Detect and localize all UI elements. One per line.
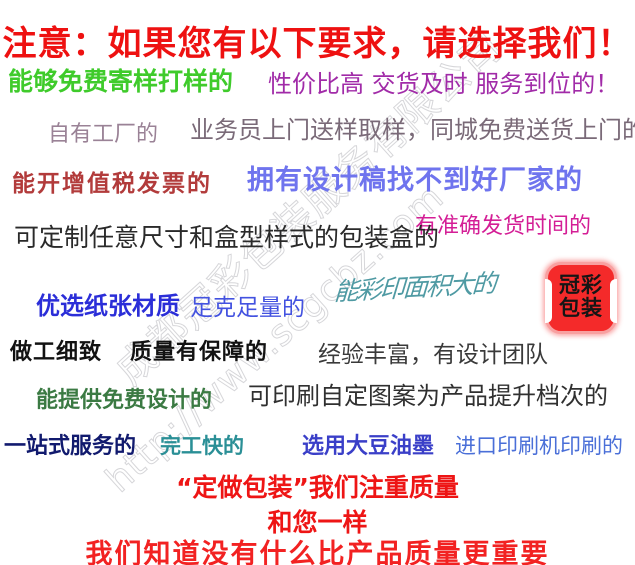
feature-quality-guaranteed: 质量有保障的 <box>130 334 268 366</box>
feature-full-weight: 足克足量的 <box>190 288 305 322</box>
feature-salesman-delivery: 业务员上门送样取样，同城免费送货上门的 <box>190 110 635 145</box>
feature-value-delivery-service: 性价比高 交货及时 服务到位的！ <box>268 64 619 99</box>
stamp-text: 冠彩 包装 <box>545 262 617 334</box>
brand-stamp-logo: 冠彩 包装 <box>545 262 617 334</box>
feature-one-stop-service: 一站式服务的 <box>4 428 136 460</box>
feature-custom-printing: 可印刷自定图案为产品提升档次的 <box>248 376 608 411</box>
feature-free-sample: 能够免费寄样打样的 <box>8 62 233 98</box>
footer-line-3: 我们知道没有什么比产品质量更重要 <box>0 532 635 565</box>
feature-soy-ink: 选用大豆油墨 <box>302 428 434 460</box>
promo-poster: 成都冠彩包装服务有限公司 http://www.scgcbz.com 注意：如果… <box>0 0 635 565</box>
feature-has-design-no-factory: 拥有设计稿找不到好厂家的 <box>247 158 583 197</box>
feature-fine-workmanship: 做工细致 <box>10 334 102 366</box>
footer-line-1: “定做包装”我们注重质量 <box>0 468 635 504</box>
feature-experienced-team: 经验丰富，有设计团队 <box>318 335 548 369</box>
feature-quality-paper: 优选纸张材质 <box>36 286 180 321</box>
brush-calligraphy-text: 能彩印面积大的 <box>333 264 496 309</box>
feature-free-design: 能提供免费设计的 <box>36 382 212 414</box>
stamp-text-bottom: 包装 <box>559 298 603 321</box>
feature-custom-size-box: 可定制任意尺寸和盒型样式的包装盒的 <box>14 218 439 254</box>
feature-imported-press: 进口印刷机印刷的 <box>455 430 623 460</box>
stamp-text-top: 冠彩 <box>559 275 603 298</box>
poster-headline: 注意：如果您有以下要求，请选择我们！ <box>0 16 635 65</box>
feature-vat-invoice: 能开增值税发票的 <box>12 164 212 198</box>
feature-fast-completion: 完工快的 <box>160 430 244 460</box>
feature-accurate-shipping-time: 有准确发货时间的 <box>415 208 591 240</box>
feature-own-factory: 自有工厂的 <box>48 116 158 148</box>
